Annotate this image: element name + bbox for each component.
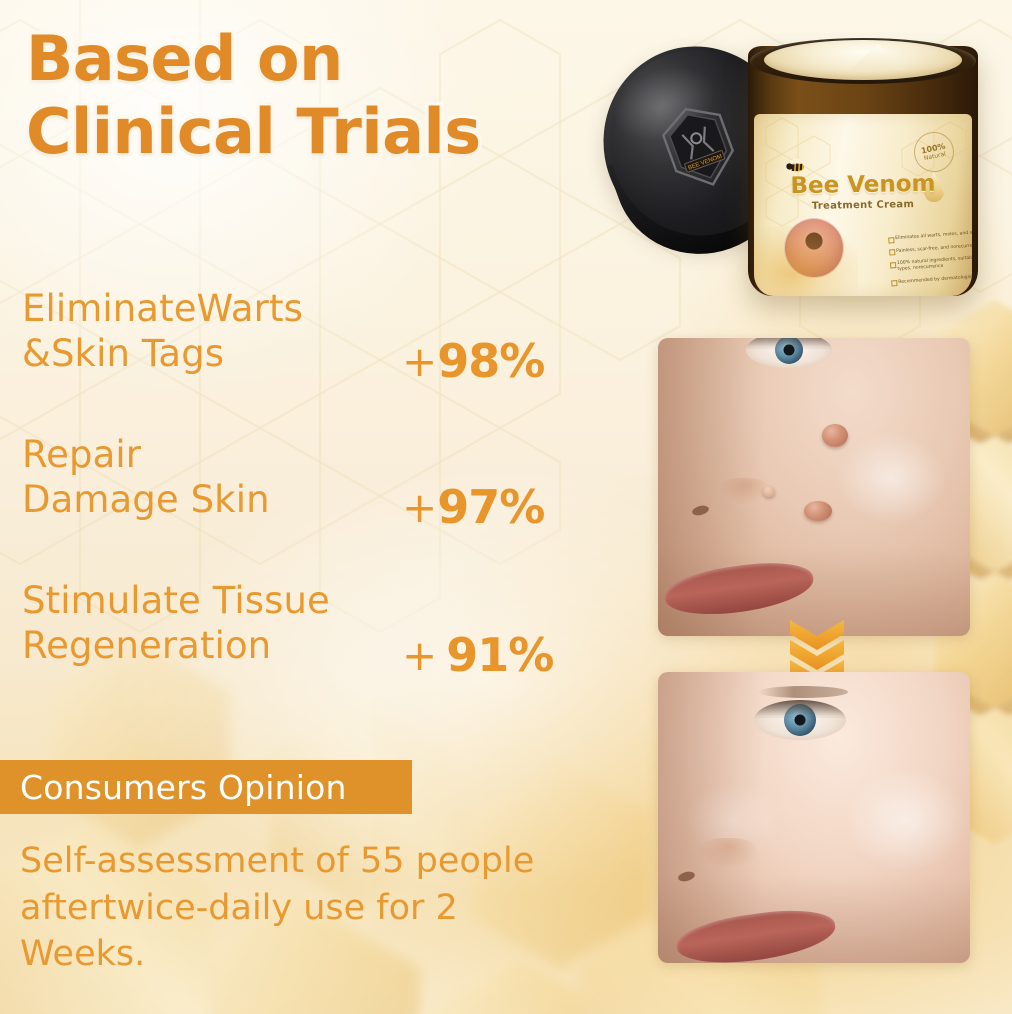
- before-cheek-highlight: [836, 432, 946, 524]
- before-skin-tag: [822, 424, 848, 447]
- footnote-line-2: aftertwice-daily use for 2: [20, 888, 458, 928]
- benefit-percentage: +98%: [402, 334, 544, 388]
- product-brand-name: Bee Venom: [754, 170, 972, 200]
- consumers-opinion-banner: Consumers Opinion: [0, 760, 412, 814]
- before-skin-tag: [804, 501, 832, 521]
- benefit-value: 98%: [437, 334, 544, 388]
- before-eyelash: [746, 338, 832, 349]
- headline-line-2: Clinical Trials: [26, 99, 626, 166]
- benefit-label: EliminateWarts &Skin Tags: [22, 286, 382, 376]
- benefit-row: Stimulate Tissue Regeneration +91%: [22, 578, 622, 724]
- benefit-plus-sign: +: [402, 483, 437, 532]
- benefit-plus-sign: +: [402, 337, 437, 386]
- jar-cream-surface: [764, 40, 962, 80]
- jar-label: 100% Natural Bee Venom Treatment Cream: [754, 114, 972, 296]
- label-bullet: Recommended by dermatologists: [891, 273, 972, 287]
- benefit-label-line-2: Damage Skin: [22, 477, 382, 522]
- bee-icon: [784, 158, 808, 174]
- benefits-list: EliminateWarts &Skin Tags +98% Repair Da…: [22, 286, 622, 724]
- benefit-label-line-1: Stimulate Tissue: [22, 579, 330, 622]
- benefit-label-line-2: Regeneration: [22, 623, 382, 668]
- benefit-value: 97%: [437, 480, 544, 534]
- benefit-label-line-1: Repair: [22, 433, 141, 476]
- promo-poster: Based on Clinical Trials EliminateWarts …: [0, 0, 1012, 1014]
- before-small-mole: [763, 486, 775, 497]
- after-eyebrow: [758, 686, 848, 698]
- footnote-text: Self-assessment of 55 people aftertwice-…: [20, 838, 620, 978]
- label-honey-glow: [754, 226, 858, 296]
- benefit-label-line-1: EliminateWarts: [22, 287, 303, 330]
- footnote-line-1: Self-assessment of 55 people: [20, 841, 534, 881]
- label-bullet: Painless, scar-free, and norecurrence: [889, 241, 972, 255]
- product-jar: BEE VENOM: [596, 14, 996, 314]
- benefit-plus-sign: +: [402, 631, 437, 680]
- after-eye: [754, 700, 846, 740]
- before-photo: [658, 338, 970, 636]
- after-cheek-highlight: [844, 768, 968, 872]
- benefit-label: Repair Damage Skin: [22, 432, 382, 522]
- benefit-percentage: +97%: [402, 480, 544, 534]
- after-photo: [658, 672, 970, 963]
- headline-line-1: Based on: [26, 26, 626, 93]
- benefit-row: EliminateWarts &Skin Tags +98%: [22, 286, 622, 432]
- jar-cream-peak: [850, 44, 906, 70]
- label-benefit-list: Eliminates all warts, moles, and skin ta…: [848, 229, 972, 296]
- label-bullet: 100% natural ingredients, suitable for a…: [890, 254, 972, 273]
- benefit-percentage: +91%: [402, 628, 553, 682]
- benefit-value: 91%: [446, 628, 553, 682]
- benefit-label-line-2: &Skin Tags: [22, 331, 382, 376]
- benefit-row: Repair Damage Skin +97%: [22, 432, 622, 578]
- after-eyelash: [754, 700, 846, 718]
- jar-glass-container: 100% Natural Bee Venom Treatment Cream: [748, 30, 978, 302]
- page-title: Based on Clinical Trials: [26, 26, 626, 166]
- benefit-label: Stimulate Tissue Regeneration: [22, 578, 382, 668]
- banner-title: Consumers Opinion: [0, 768, 347, 807]
- footnote-line-3: Weeks.: [20, 934, 145, 974]
- after-nose: [698, 838, 758, 868]
